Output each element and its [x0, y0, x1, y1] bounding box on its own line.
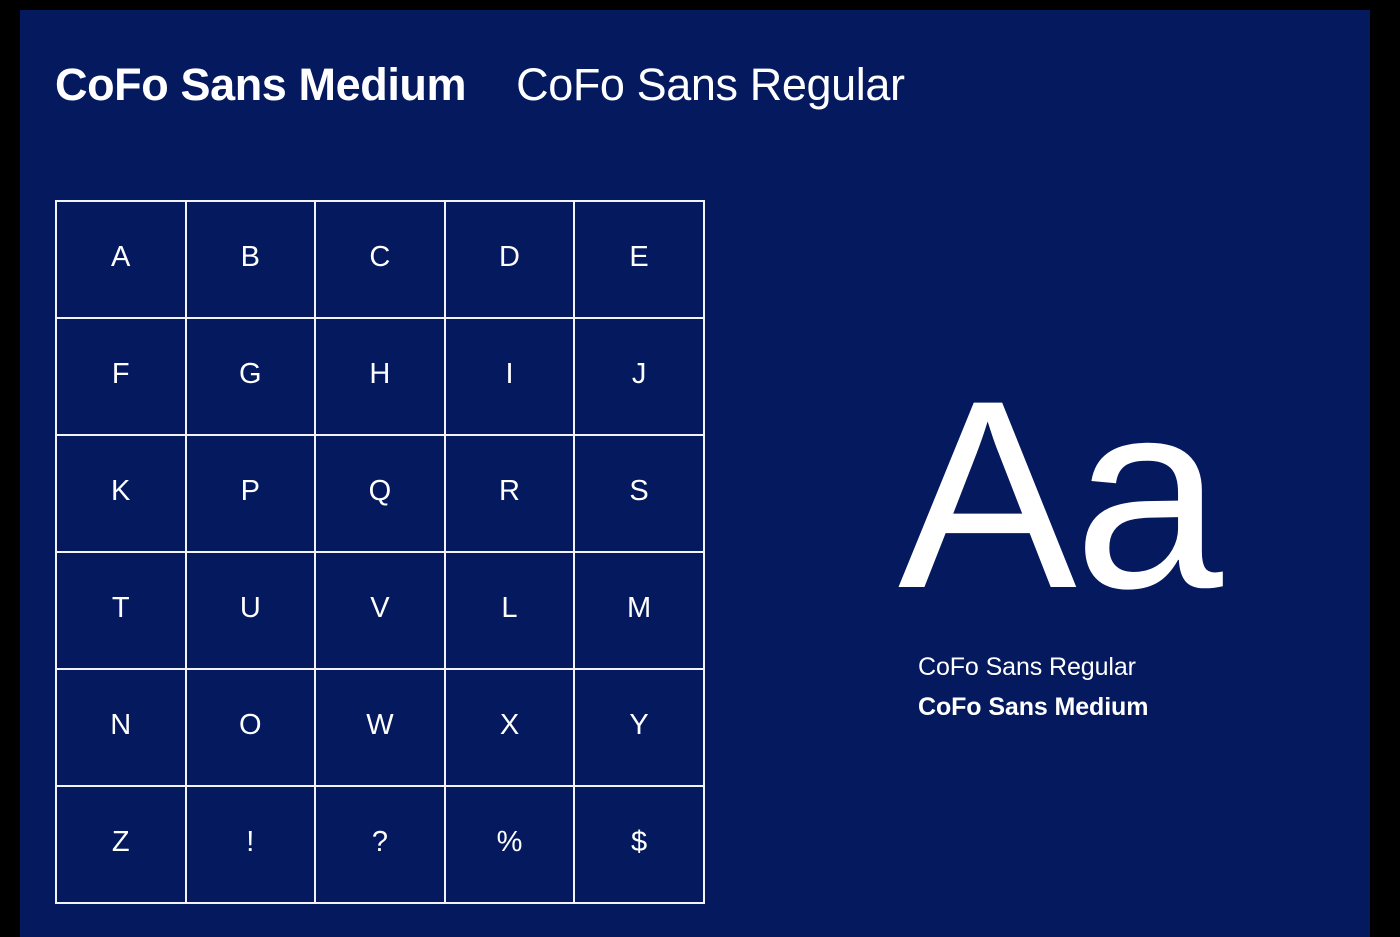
glyph-char: Q	[369, 477, 392, 506]
glyph-char: G	[239, 360, 262, 389]
glyph-cell: G	[187, 319, 317, 436]
glyph-char: W	[366, 711, 394, 740]
glyph-char: P	[241, 477, 261, 506]
glyph-char: N	[110, 711, 131, 740]
glyph-char: O	[239, 711, 262, 740]
glyph-cell: R	[446, 436, 576, 553]
specimen-label-medium: CoFo Sans Medium	[918, 687, 1318, 727]
glyph-cell: N	[57, 670, 187, 787]
glyph-char: S	[629, 477, 649, 506]
glyph-char: I	[505, 360, 513, 389]
glyph-cell: M	[575, 553, 705, 670]
glyph-char: E	[629, 243, 649, 272]
glyph-grid: A B C D E F G H I J K P Q R S T U V L M …	[55, 200, 705, 904]
glyph-char: ?	[372, 828, 388, 857]
glyph-cell: W	[316, 670, 446, 787]
glyph-char: $	[631, 828, 647, 857]
glyph-char: C	[369, 243, 390, 272]
glyph-cell: V	[316, 553, 446, 670]
glyph-cell: T	[57, 553, 187, 670]
glyph-char: A	[111, 243, 131, 272]
glyph-cell: O	[187, 670, 317, 787]
glyph-char: L	[501, 594, 517, 623]
glyph-char: D	[499, 243, 520, 272]
header-title-medium: CoFo Sans Medium	[55, 62, 466, 107]
header: CoFo Sans Medium CoFo Sans Regular	[55, 62, 905, 107]
specimen-board: CoFo Sans Medium CoFo Sans Regular A B C…	[20, 10, 1370, 937]
glyph-cell: S	[575, 436, 705, 553]
glyph-char: X	[500, 711, 520, 740]
header-title-regular: CoFo Sans Regular	[516, 62, 904, 107]
glyph-cell: C	[316, 202, 446, 319]
glyph-char: H	[369, 360, 390, 389]
glyph-cell: P	[187, 436, 317, 553]
glyph-cell: X	[446, 670, 576, 787]
specimen-label-regular: CoFo Sans Regular	[918, 647, 1318, 687]
glyph-cell: A	[57, 202, 187, 319]
glyph-char: Y	[629, 711, 649, 740]
specimen-block: Aa CoFo Sans Regular CoFo Sans Medium	[898, 390, 1318, 727]
glyph-cell: Q	[316, 436, 446, 553]
glyph-cell: K	[57, 436, 187, 553]
glyph-cell: B	[187, 202, 317, 319]
glyph-cell: H	[316, 319, 446, 436]
glyph-char: F	[112, 360, 130, 389]
glyph-char: U	[240, 594, 261, 623]
glyph-cell: U	[187, 553, 317, 670]
glyph-char: Z	[112, 828, 130, 857]
glyph-cell: L	[446, 553, 576, 670]
glyph-cell: F	[57, 319, 187, 436]
glyph-cell: Y	[575, 670, 705, 787]
glyph-cell: D	[446, 202, 576, 319]
glyph-char: K	[111, 477, 131, 506]
glyph-cell: !	[187, 787, 317, 904]
glyph-char: T	[112, 594, 130, 623]
glyph-cell: ?	[316, 787, 446, 904]
glyph-char: !	[246, 828, 254, 857]
glyph-cell: E	[575, 202, 705, 319]
glyph-cell: J	[575, 319, 705, 436]
glyph-char: J	[632, 360, 647, 389]
glyph-char: V	[370, 594, 390, 623]
specimen-labels: CoFo Sans Regular CoFo Sans Medium	[918, 647, 1318, 727]
glyph-cell: $	[575, 787, 705, 904]
glyph-char: M	[627, 594, 651, 623]
glyph-char: %	[497, 828, 523, 857]
glyph-cell: Z	[57, 787, 187, 904]
glyph-char: B	[241, 243, 261, 272]
specimen-sample-aa: Aa	[898, 390, 1318, 605]
specimen-screen: CoFo Sans Medium CoFo Sans Regular A B C…	[0, 0, 1400, 937]
glyph-cell: %	[446, 787, 576, 904]
glyph-cell: I	[446, 319, 576, 436]
glyph-char: R	[499, 477, 520, 506]
